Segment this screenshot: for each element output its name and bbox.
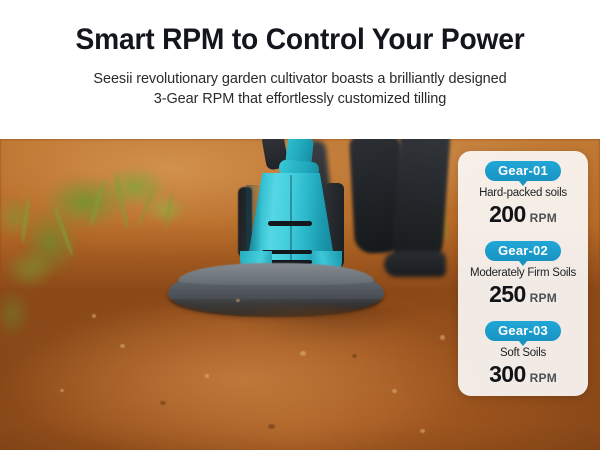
gear-badge-wrapper: Gear-01 bbox=[458, 161, 588, 183]
gear-rpm-02: 250RPM bbox=[458, 282, 588, 310]
gear-badge-03: Gear-03 bbox=[485, 321, 561, 341]
gear-rpm-value-01: 200 bbox=[489, 201, 526, 227]
soil-speck bbox=[92, 314, 96, 318]
subtitle-line-1: Seesii revolutionary garden cultivator b… bbox=[0, 70, 600, 89]
header-section: Smart RPM to Control Your Power Seesii r… bbox=[0, 0, 600, 139]
soil-speck bbox=[392, 389, 397, 393]
gear-badge-wrapper: Gear-03 bbox=[458, 321, 588, 343]
soil-speck bbox=[268, 424, 275, 429]
gear-spec-card: Gear-01 Hard-packed soils 200RPM Gear-02… bbox=[458, 151, 588, 396]
gear-soil-type-02: Moderately Firm Soils bbox=[458, 266, 588, 281]
soil-speck bbox=[120, 344, 125, 348]
gear-entry-01: Gear-01 Hard-packed soils 200RPM bbox=[458, 161, 588, 230]
gear-rpm-value-03: 300 bbox=[489, 361, 526, 387]
badge-pointer-icon bbox=[518, 260, 528, 266]
soil-speck bbox=[420, 429, 425, 433]
soil-speck bbox=[236, 299, 240, 302]
badge-pointer-icon bbox=[518, 180, 528, 186]
gear-entry-02: Gear-02 Moderately Firm Soils 250RPM bbox=[458, 241, 588, 310]
tool-vent-slot bbox=[268, 221, 312, 226]
soil-speck bbox=[300, 351, 306, 356]
gear-rpm-unit-01: RPM bbox=[530, 211, 557, 225]
gear-badge-02: Gear-02 bbox=[485, 241, 561, 261]
gear-soil-type-03: Soft Soils bbox=[458, 346, 588, 361]
badge-pointer-icon bbox=[518, 340, 528, 346]
soil-speck bbox=[440, 335, 445, 340]
gear-rpm-value-02: 250 bbox=[489, 281, 526, 307]
page-title: Smart RPM to Control Your Power bbox=[18, 22, 582, 58]
product-feature-banner: Smart RPM to Control Your Power Seesii r… bbox=[0, 0, 600, 450]
gear-rpm-01: 200RPM bbox=[458, 202, 588, 230]
gear-soil-type-01: Hard-packed soils bbox=[458, 186, 588, 201]
soil-speck bbox=[160, 401, 166, 405]
tool-guard-top-surface bbox=[178, 263, 374, 285]
gear-rpm-03: 300RPM bbox=[458, 362, 588, 390]
soil-speck bbox=[352, 354, 357, 358]
soil-speck bbox=[205, 374, 209, 378]
gear-rpm-unit-02: RPM bbox=[530, 291, 557, 305]
gear-entry-03: Gear-03 Soft Soils 300RPM bbox=[458, 321, 588, 390]
subtitle-line-2: 3-Gear RPM that effortlessly customized … bbox=[0, 90, 600, 109]
gear-badge-01: Gear-01 bbox=[485, 161, 561, 181]
gear-badge-wrapper: Gear-02 bbox=[458, 241, 588, 263]
gear-rpm-unit-03: RPM bbox=[530, 371, 557, 385]
soil-speck bbox=[60, 389, 64, 392]
